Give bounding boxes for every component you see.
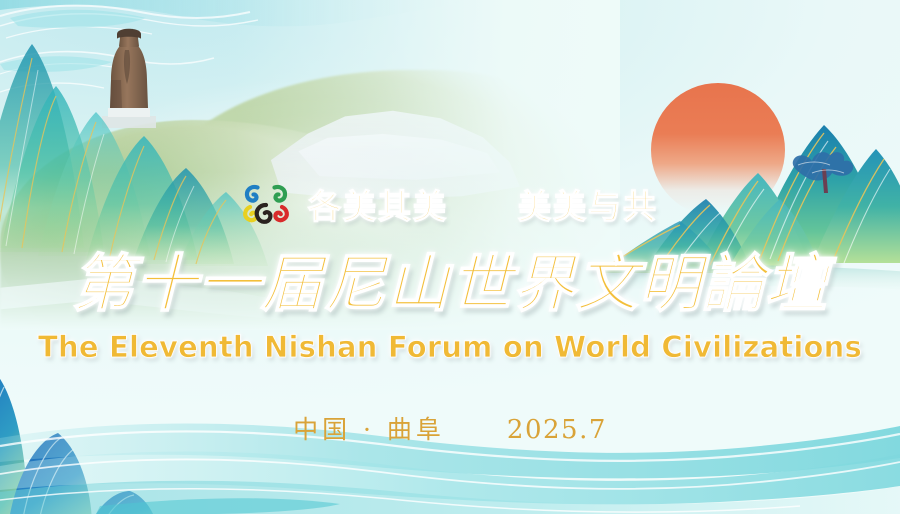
meta-row: 中国 · 曲阜 2025.7: [0, 410, 900, 446]
tagline-text: 各美其美 美美与共: [308, 180, 658, 228]
tagline-row: 各美其美 美美与共: [0, 180, 900, 228]
location-text: 中国 · 曲阜: [293, 410, 445, 446]
poster-content: 各美其美 美美与共 第十一届尼山世界文明論壇 The Eleventh Nish…: [0, 0, 900, 514]
main-title-english: The Eleventh Nishan Forum on World Civil…: [0, 330, 900, 364]
date-text: 2025.7: [507, 415, 607, 445]
five-spiral-emblem-icon: [242, 181, 290, 227]
nishan-forum-poster: 各美其美 美美与共 第十一届尼山世界文明論壇 The Eleventh Nish…: [0, 0, 900, 514]
main-title-chinese: 第十一届尼山世界文明論壇: [0, 252, 900, 315]
